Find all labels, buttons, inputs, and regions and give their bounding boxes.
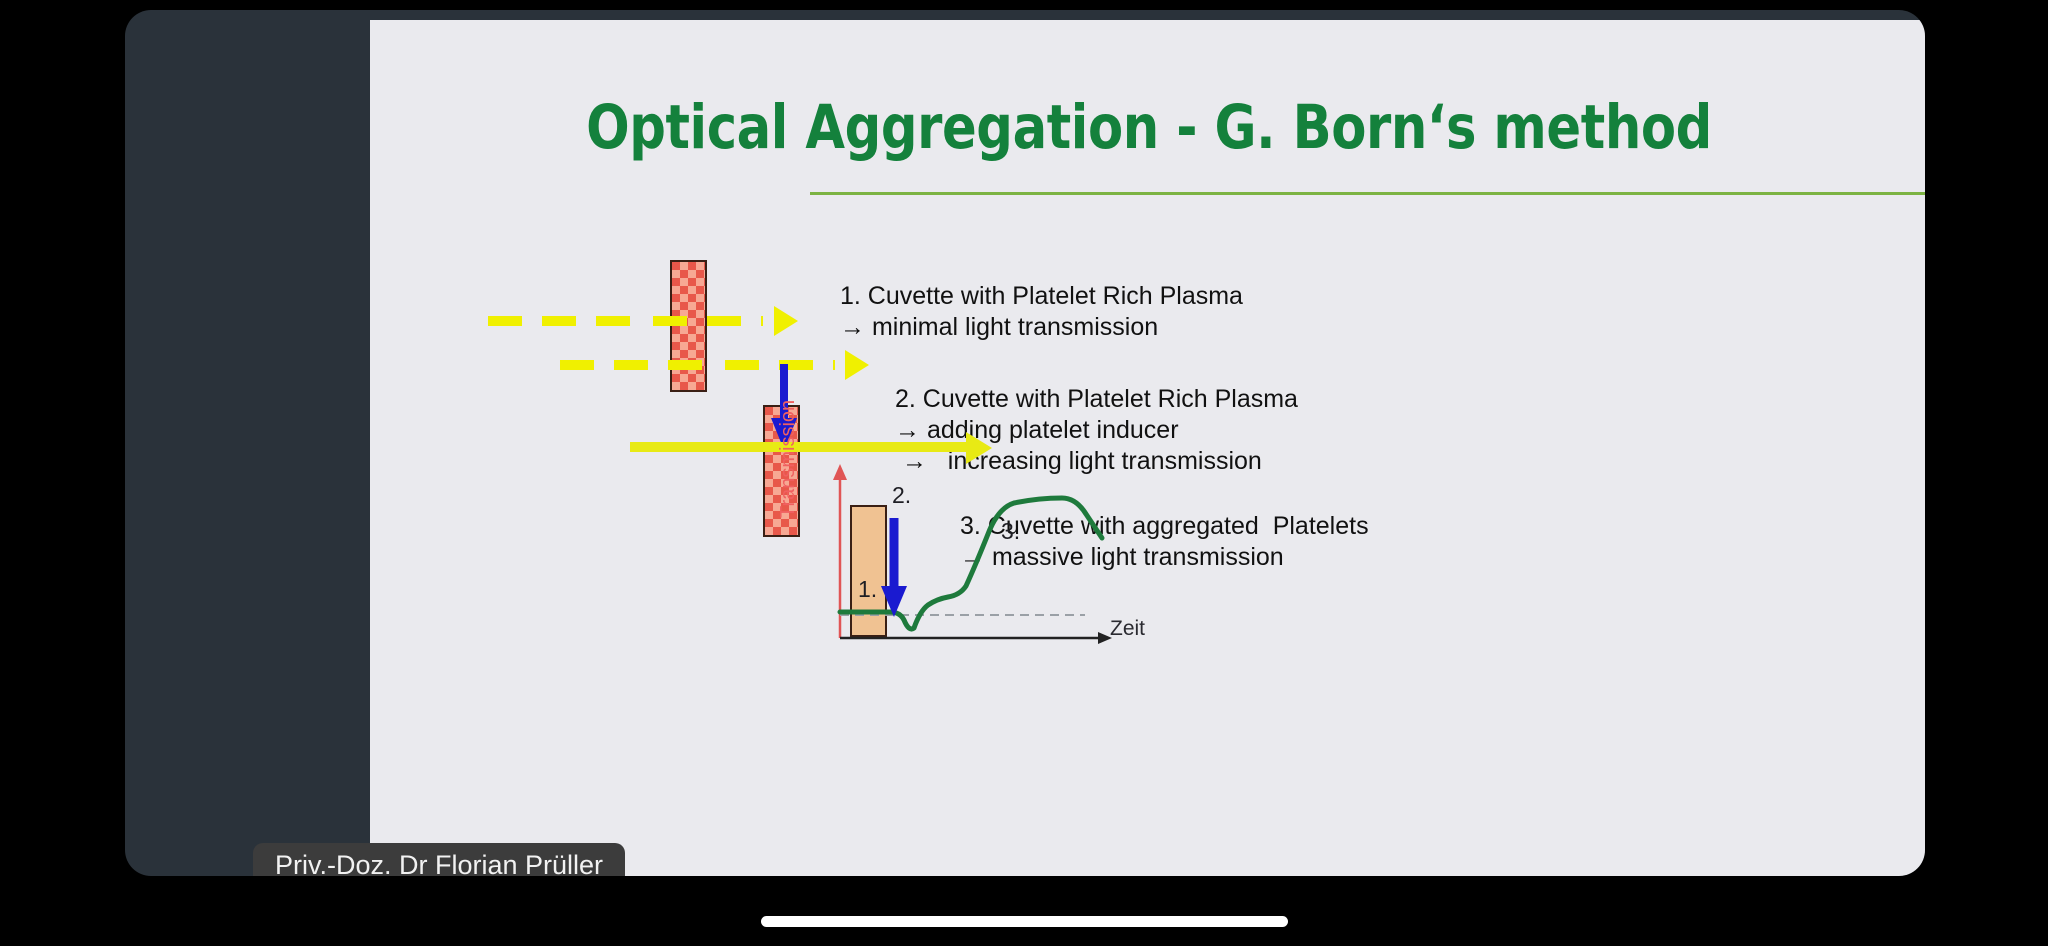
author-caption: Priv.-Doz. Dr Florian Prüller: [253, 843, 625, 876]
light-beam-arrowhead-step-1: [774, 306, 798, 336]
cuvette-step-1: [670, 260, 707, 392]
chart-y-axis-label: Transmission: [777, 400, 800, 518]
light-beam-step-1-right: [653, 316, 763, 326]
light-beam-step-2-left: [560, 360, 712, 370]
presentation-slide: Optical Aggregation - G. Born‘s method 1…: [370, 20, 1925, 876]
step-2-line-2: → adding platelet inducer: [895, 416, 1179, 444]
light-beam-arrowhead-step-2: [845, 350, 869, 380]
chart-x-axis-label: Zeit: [1110, 617, 1145, 641]
chart-transmission-curve: [840, 498, 1102, 629]
title-underline: [810, 192, 1925, 195]
step-1-description: 1. Cuvette with Platelet Rich Plasma → m…: [840, 281, 1243, 343]
step-1-line-1: 1. Cuvette with Platelet Rich Plasma: [840, 282, 1243, 310]
step-2-line-1: 2. Cuvette with Platelet Rich Plasma: [895, 385, 1298, 413]
chart-inducer-arrow-icon: [881, 518, 907, 617]
chart-annotation-2: 2.: [892, 482, 911, 509]
light-beam-step-1-left: [488, 316, 640, 326]
light-beam-step-3: [630, 442, 970, 452]
slide-title: Optical Aggregation - G. Born‘s method: [495, 92, 1804, 163]
video-player-panel: Optical Aggregation - G. Born‘s method 1…: [125, 10, 1925, 876]
author-name: Priv.-Doz. Dr Florian Prüller: [275, 850, 603, 877]
home-indicator[interactable]: [761, 916, 1288, 927]
chart-y-axis-arrowhead: [833, 464, 847, 480]
chart-annotation-1: 1.: [858, 576, 877, 603]
video-player-screen: Optical Aggregation - G. Born‘s method 1…: [0, 0, 2048, 946]
step-1-line-2: → minimal light transmission: [840, 313, 1158, 341]
chart-annotation-3: 3.: [1001, 518, 1020, 545]
aggregation-curve-chart: [800, 460, 1160, 660]
